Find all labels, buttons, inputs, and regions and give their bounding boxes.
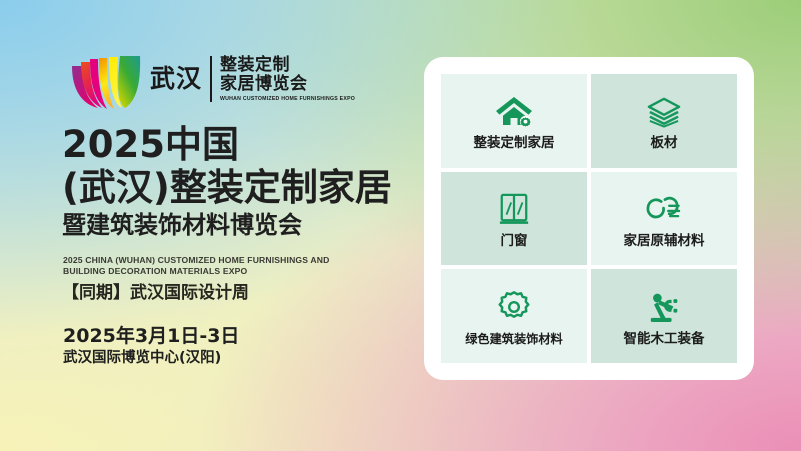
category-cell-green-materials[interactable]: 绿色建筑装饰材料 xyxy=(441,269,587,363)
poster-root: 武汉 整装定制 家居博览会 WUHAN CUSTOMIZED HOME FURN… xyxy=(0,0,801,451)
concurrent-event-label: 【同期】武汉国际设计周 xyxy=(62,282,249,304)
category-label: 门窗 xyxy=(501,233,528,249)
chain-link-icon xyxy=(644,188,684,226)
category-grid: 整装定制家居 板材 xyxy=(441,74,737,363)
category-label: 家居原辅材料 xyxy=(624,233,705,249)
logo-name-line-1: 整装定制 xyxy=(220,56,355,75)
category-cell-home[interactable]: 整装定制家居 xyxy=(441,74,587,168)
logo-divider xyxy=(210,56,212,102)
gear-icon xyxy=(497,286,531,324)
subtitle-english: 2025 CHINA (WUHAN) CUSTOMIZED HOME FURNI… xyxy=(63,255,343,277)
brand-logo: 武汉 整装定制 家居博览会 WUHAN CUSTOMIZED HOME FURN… xyxy=(62,44,355,114)
logo-city-text: 武汉 xyxy=(150,66,202,91)
category-label: 整装定制家居 xyxy=(474,135,555,151)
logo-name-line-2: 家居博览会 xyxy=(220,75,355,94)
category-label: 板材 xyxy=(651,135,678,151)
window-icon xyxy=(498,188,530,226)
layers-stack-icon xyxy=(645,90,683,128)
category-card: 整装定制家居 板材 xyxy=(424,57,754,380)
rainbow-swoosh-logo-icon xyxy=(62,44,146,114)
category-cell-boards[interactable]: 板材 xyxy=(591,74,737,168)
logo-name-english: WUHAN CUSTOMIZED HOME FURNISHINGS EXPO xyxy=(220,96,355,102)
title-line-3: 暨建筑装饰材料博览会 xyxy=(62,210,392,240)
category-label: 智能木工装备 xyxy=(624,331,705,347)
title-line-1: 2025中国 xyxy=(62,124,392,166)
category-cell-doors-windows[interactable]: 门窗 xyxy=(441,172,587,266)
event-venue: 武汉国际博览中心(汉阳) xyxy=(63,348,221,368)
title-line-2: (武汉)整装定制家居 xyxy=(62,166,392,209)
house-gear-icon xyxy=(494,90,534,128)
category-cell-raw-materials[interactable]: 家居原辅材料 xyxy=(591,172,737,266)
category-label: 绿色建筑装饰材料 xyxy=(465,331,563,347)
category-cell-smart-woodworking[interactable]: 智能木工装备 xyxy=(591,269,737,363)
event-dates: 2025年3月1日-3日 xyxy=(63,324,239,348)
page-title: 2025中国 (武汉)整装定制家居 暨建筑装饰材料博览会 xyxy=(62,124,392,240)
robot-arm-icon xyxy=(645,286,683,324)
